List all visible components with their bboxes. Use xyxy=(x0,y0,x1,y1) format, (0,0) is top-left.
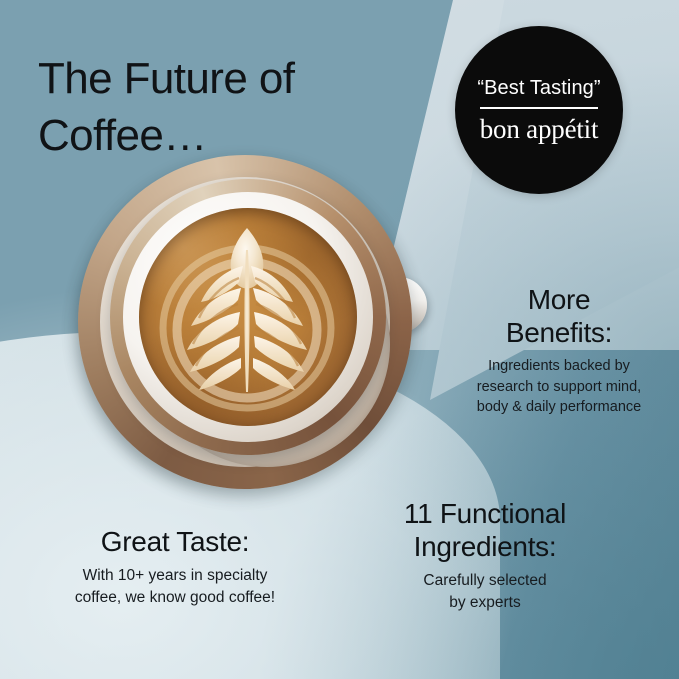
feature-ingredients-title-line-1: 11 Functional xyxy=(404,498,566,529)
feature-functional-ingredients: 11 Functional Ingredients: Carefully sel… xyxy=(356,497,614,614)
cup-rim xyxy=(123,192,373,442)
coffee-cup-image xyxy=(70,148,425,498)
feature-taste-body: With 10+ years in specialty coffee, we k… xyxy=(44,565,306,609)
award-badge-quote: “Best Tasting” xyxy=(477,78,600,98)
feature-benefits-title: More Benefits: xyxy=(446,283,672,349)
feature-benefits-body: Ingredients backed by research to suppor… xyxy=(446,356,672,418)
award-badge-brand: bon appétit xyxy=(480,116,599,143)
feature-great-taste: Great Taste: With 10+ years in specialty… xyxy=(44,525,306,609)
latte-art-rosetta xyxy=(139,208,357,426)
award-badge: “Best Tasting” bon appétit xyxy=(455,26,623,194)
feature-ingredients-title: 11 Functional Ingredients: xyxy=(356,497,614,563)
feature-ingredients-body-line-1: Carefully selected xyxy=(423,572,546,589)
feature-benefits-body-line-3: body & daily performance xyxy=(477,399,641,415)
feature-benefits-body-line-2: research to support mind, xyxy=(477,379,641,395)
coffee-surface xyxy=(139,208,357,426)
feature-ingredients-title-line-2: Ingredients: xyxy=(414,531,557,562)
feature-taste-body-line-1: With 10+ years in specialty xyxy=(83,567,268,584)
feature-benefits-title-line-1: More xyxy=(528,284,591,315)
feature-taste-body-line-2: coffee, we know good coffee! xyxy=(75,589,275,606)
feature-taste-title: Great Taste: xyxy=(44,525,306,558)
feature-benefits-body-line-1: Ingredients backed by xyxy=(488,358,630,374)
feature-ingredients-body: Carefully selected by experts xyxy=(356,570,614,614)
cup-body xyxy=(110,179,386,455)
coffee-infographic-canvas: The Future of Coffee… “Best Tasting” bon… xyxy=(0,0,679,679)
feature-more-benefits: More Benefits: Ingredients backed by res… xyxy=(446,283,672,418)
feature-ingredients-body-line-2: by experts xyxy=(449,594,521,611)
award-badge-divider xyxy=(480,107,598,109)
feature-benefits-title-line-2: Benefits: xyxy=(506,317,612,348)
feature-taste-title-line-1: Great Taste: xyxy=(101,526,249,557)
headline-line-1: The Future of xyxy=(38,54,294,103)
